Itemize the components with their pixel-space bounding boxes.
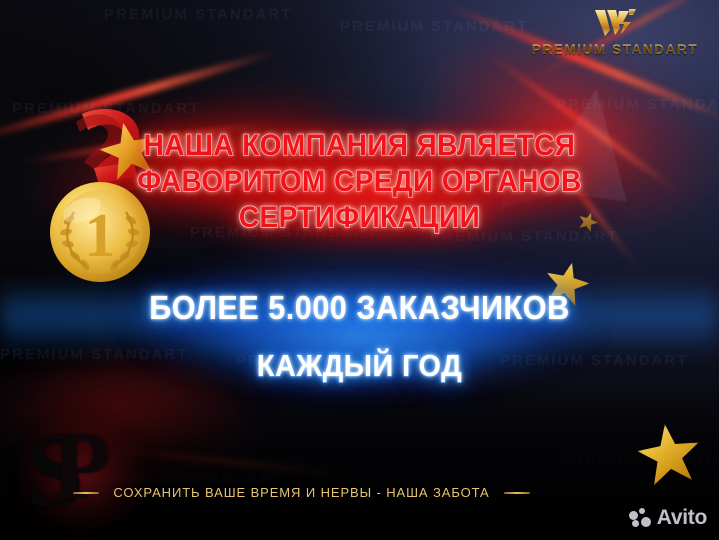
- tagline-dash-left: [73, 492, 99, 494]
- avito-watermark: Avito: [629, 508, 707, 528]
- subhead-line-2: КАЖДЫЙ ГОД: [25, 346, 694, 386]
- headline-block: НАША КОМПАНИЯ ЯВЛЯЕТСЯ ФАВОРИТОМ СРЕДИ О…: [0, 128, 719, 236]
- w-lightning-logo-icon: [593, 8, 637, 38]
- tagline-row: СОХРАНИТЬ ВАШЕ ВРЕМЯ И НЕРВЫ - НАША ЗАБО…: [0, 485, 719, 500]
- subhead-block: БОЛЕЕ 5.000 ЗАКАЗЧИКОВ КАЖДЫЙ ГОД: [0, 288, 719, 386]
- headline-line-1: НАША КОМПАНИЯ ЯВЛЯЕТСЯ: [25, 128, 694, 164]
- avito-label: Avito: [657, 508, 707, 528]
- monogram-letter-p: P: [52, 414, 111, 518]
- headline-line-2: ФАВОРИТОМ СРЕДИ ОРГАНОВ: [25, 164, 694, 200]
- brand-name: PREMIUM STANDART: [527, 42, 703, 57]
- ps-monogram-watermark: S P: [22, 424, 132, 534]
- watermark-text: PREMIUM STANDART: [556, 96, 719, 113]
- subhead-line-1: БОЛЕЕ 5.000 ЗАКАЗЧИКОВ: [25, 288, 694, 328]
- watermark-text: PREMIUM STANDART: [340, 18, 528, 35]
- tagline-dash-right: [504, 492, 530, 494]
- promo-banner: PREMIUM STANDARTPREMIUM STANDARTPREMIUM …: [0, 0, 719, 540]
- headline-line-3: СЕРТИФИКАЦИИ: [25, 200, 694, 236]
- brand-logo: PREMIUM STANDART: [527, 8, 703, 57]
- watermark-text: PREMIUM STANDART: [104, 6, 292, 23]
- tagline-text: СОХРАНИТЬ ВАШЕ ВРЕМЯ И НЕРВЫ - НАША ЗАБО…: [113, 485, 489, 500]
- avito-dots-icon: [629, 508, 651, 528]
